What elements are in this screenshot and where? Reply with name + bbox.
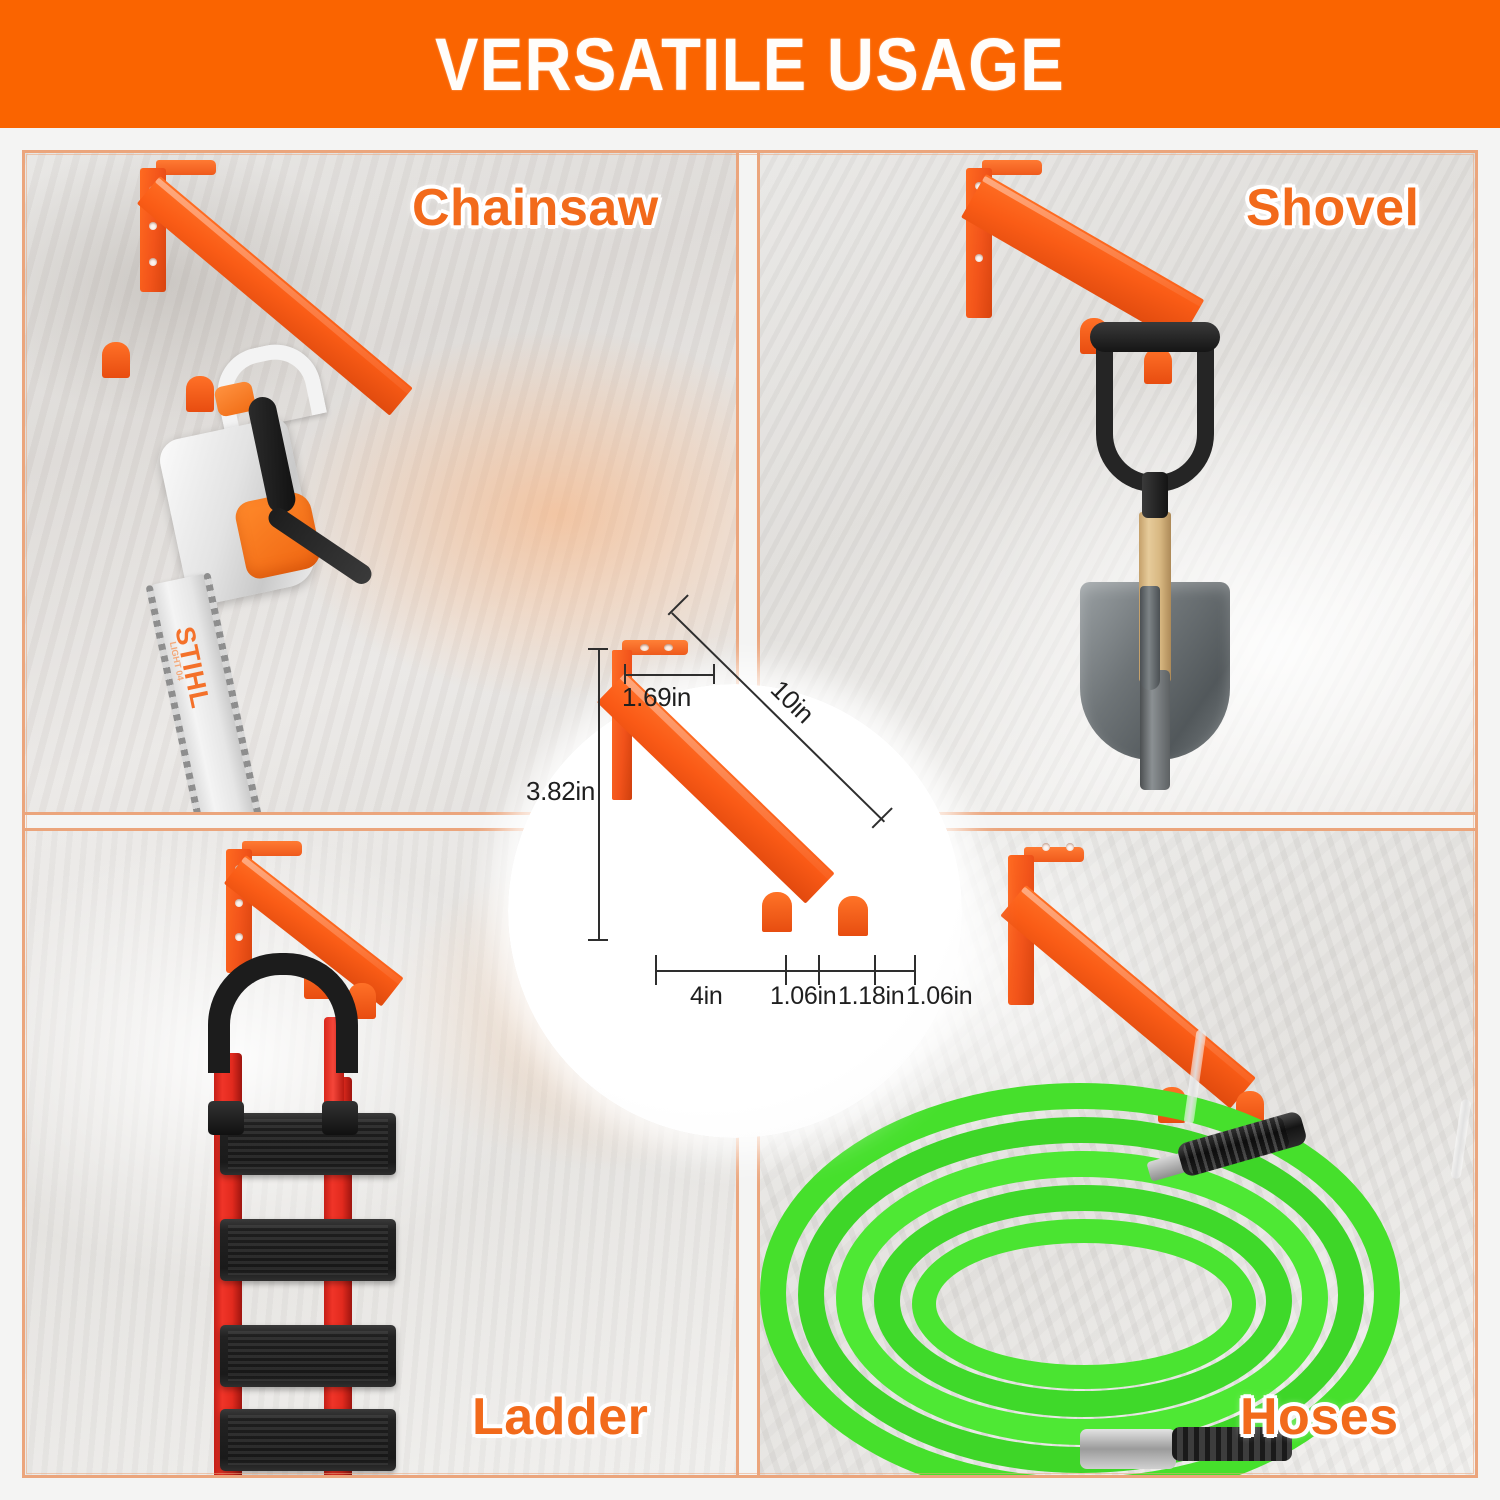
quadrant-label-hoses: Hoses [1240, 1387, 1399, 1447]
quadrant-label-chainsaw: Chainsaw [412, 178, 659, 238]
infographic-page: VERSATILE USAGE [0, 0, 1500, 1500]
dimension-tick [785, 955, 787, 985]
dimension-tick [818, 955, 820, 985]
bracket-hook-tab [186, 376, 214, 412]
bracket-hook-tab [102, 342, 130, 378]
bracket-screw-hole [1042, 843, 1050, 851]
ladder-clamp [208, 1101, 244, 1135]
ladder-step [220, 1219, 396, 1281]
shovel-d-handle [1096, 342, 1214, 492]
dimension-label-height: 3.82in [526, 776, 595, 807]
dimension-line-height [598, 648, 600, 940]
dimension-label-plate-width: 1.69in [622, 682, 691, 713]
callout-screw-hole [640, 644, 649, 651]
ladder-step [220, 1113, 396, 1175]
hose-loop [912, 1219, 1256, 1389]
dimension-line-plate-width [624, 674, 714, 676]
bracket-screw-hole [235, 899, 243, 907]
callout-hook-tab [838, 896, 868, 936]
dimension-label-base-a: 4in [690, 982, 722, 1011]
header-banner: VERSATILE USAGE [0, 0, 1500, 128]
dimension-tick [713, 664, 715, 684]
ladder-step [220, 1325, 396, 1387]
dimension-tick [655, 955, 657, 985]
bracket-screw-hole [1066, 843, 1074, 851]
bracket-screw-hole [149, 222, 157, 230]
quadrant-label-shovel: Shovel [1246, 178, 1420, 238]
callout-hook-tab [762, 892, 792, 932]
hose-metal-coupler [1080, 1429, 1176, 1469]
dimension-label-base-c: 1.18in [838, 982, 904, 1011]
quadrant-label-ladder: Ladder [472, 1387, 648, 1447]
dimension-label-base-d: 1.06in [906, 982, 972, 1011]
ladder-clamp [322, 1101, 358, 1135]
page-title: VERSATILE USAGE [435, 22, 1065, 107]
dimension-tick [914, 955, 916, 985]
shovel-grip-crossbar [1090, 322, 1220, 352]
dimension-tick [624, 664, 626, 684]
bracket-screw-hole [149, 258, 157, 266]
dimension-label-base-b: 1.06in [770, 982, 836, 1011]
bracket-screw-hole [235, 933, 243, 941]
dimension-tick [874, 955, 876, 985]
callout-screw-hole [664, 644, 673, 651]
ladder-step [220, 1409, 396, 1471]
shovel-handle-neck [1142, 472, 1168, 518]
bracket-screw-hole [975, 254, 983, 262]
dimension-tick [588, 648, 608, 650]
shovel-blade-rib [1140, 586, 1160, 690]
quadrant-grid: STIHL LIGHT 04 Chainsaw [0, 128, 1500, 1500]
dimension-tick [588, 939, 608, 941]
